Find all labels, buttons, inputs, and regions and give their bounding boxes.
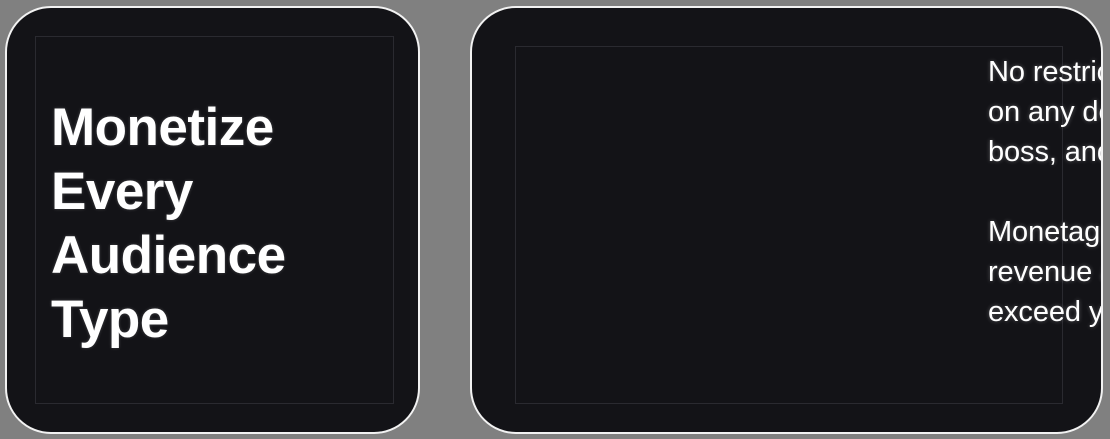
body-card-inner-frame [515,46,1063,404]
slide-canvas: Monetize Every Audience Type No restrict… [0,0,1110,439]
body-card: No restrictions. No limits. Work your wa… [470,6,1103,434]
headline-card: Monetize Every Audience Type [5,6,420,434]
body-paragraph-1: No restrictions. No limits. Work your wa… [988,52,1103,172]
body-paragraph-2: Monetag delivers the perfect balance of … [988,212,1103,332]
body-copy: No restrictions. No limits. Work your wa… [988,52,1103,332]
page-title: Monetize Every Audience Type [51,96,381,352]
